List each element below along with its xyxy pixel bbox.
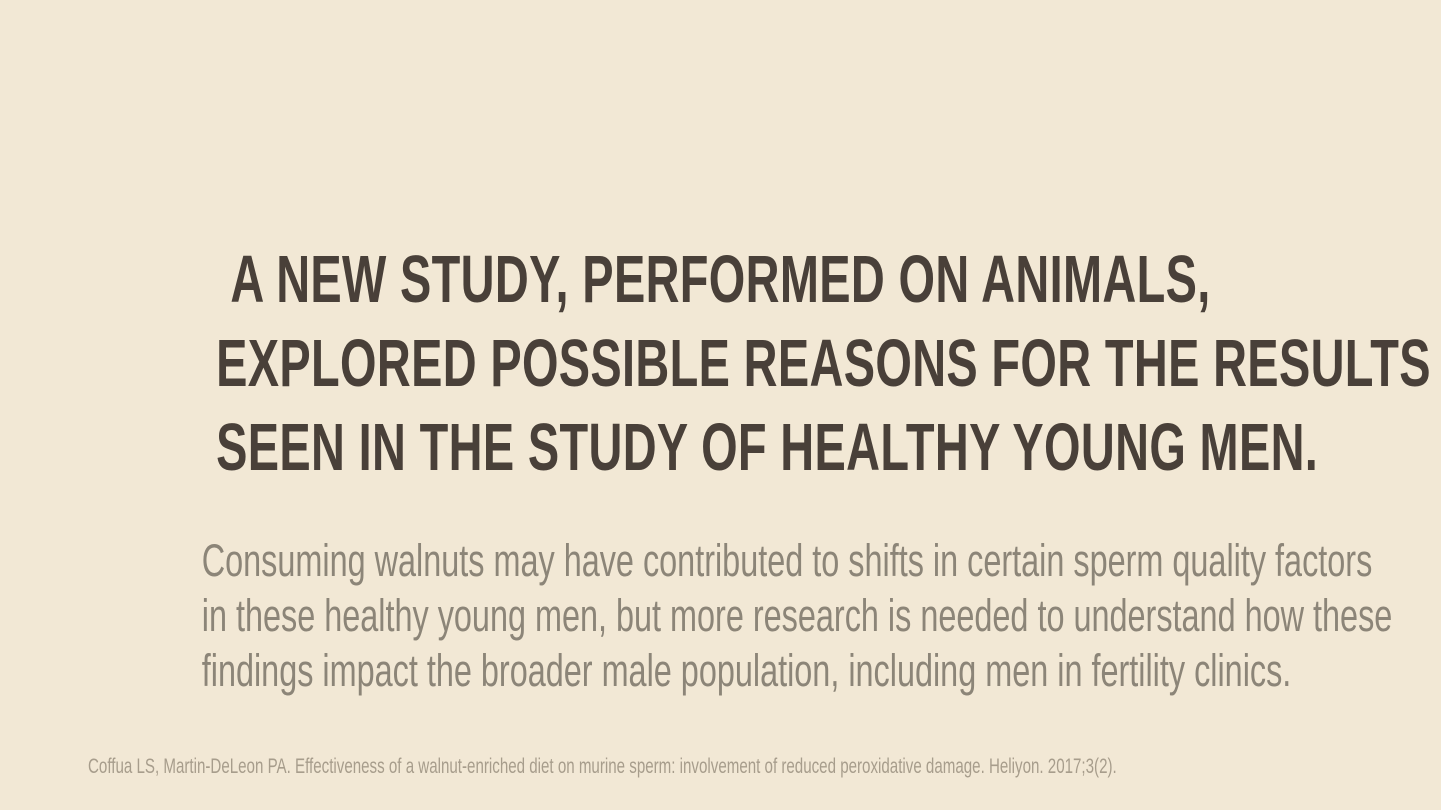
headline-line-1: A NEW STUDY, PERFORMED ON ANIMALS, — [216, 238, 1225, 322]
body-line-2: in these healthy young men, but more res… — [202, 588, 1240, 643]
citation-block: Coffua LS, Martin-DeLeon PA. Effectivene… — [88, 754, 1388, 780]
body-paragraph: Consuming walnuts may have contributed t… — [0, 533, 1441, 698]
informational-slide: A NEW STUDY, PERFORMED ON ANIMALS, EXPLO… — [0, 0, 1441, 810]
citation-reference: Coffua LS, Martin-DeLeon PA. Effectivene… — [88, 754, 1117, 780]
headline-block: A NEW STUDY, PERFORMED ON ANIMALS, EXPLO… — [0, 238, 1441, 490]
body-line-1: Consuming walnuts may have contributed t… — [202, 533, 1240, 588]
body-line-3: findings impact the broader male populat… — [202, 643, 1240, 698]
headline-line-2: EXPLORED POSSIBLE REASONS FOR THE RESULT… — [216, 322, 1225, 406]
headline-line-3: SEEN IN THE STUDY OF HEALTHY YOUNG MEN. — [216, 406, 1225, 490]
